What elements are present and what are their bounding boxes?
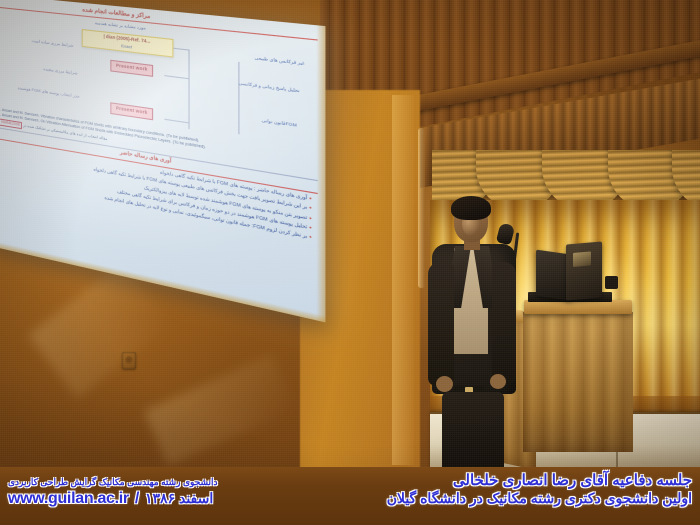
diagram-label: حذر انتخاب پوسته های FGM هوشمند — [18, 85, 80, 100]
diagram-connector — [164, 118, 189, 122]
diagram-connector — [171, 47, 189, 50]
presenter-hand — [490, 374, 506, 389]
present-work-badge: Present work — [111, 102, 153, 120]
wall-corner-highlight — [392, 95, 414, 465]
diagram-connector — [189, 49, 190, 129]
present-work-badge: Present work — [111, 59, 153, 76]
caption-separator: / — [135, 490, 139, 508]
small-device — [605, 276, 618, 289]
caption-title: جلسه دفاعیه آقای رضا انصاری خلخالی — [453, 471, 692, 489]
presenter-arm — [428, 262, 454, 386]
caption-subtitle: اولین دانشجوی دکتری رشته مکانیک در دانشگ… — [387, 490, 692, 507]
caption-side-note: دانشجوی رشته مهندسی مکانیک گرایش طراحی ک… — [8, 477, 218, 488]
website-link[interactable]: www.guilan.ac.ir — [8, 490, 129, 508]
presenter-trousers — [442, 392, 504, 472]
presenter — [418, 200, 528, 470]
diagram-label: تحلیل پاسخ زمانی و فرکانسی — [238, 80, 299, 95]
diagram-label: غیر فرکانس های طبیعی — [255, 54, 305, 67]
wall-socket-icon — [122, 352, 136, 369]
podium-top — [524, 300, 632, 314]
diagram-label: شرایط مرزی ساده است — [32, 38, 74, 49]
screen-right-edge — [316, 25, 325, 322]
diagram-label: شرایط مرزی پیچیده — [43, 66, 77, 77]
caption-bar: جلسه دفاعیه آقای رضا انصاری خلخالی دانشج… — [0, 467, 700, 525]
laptop-screen — [536, 250, 570, 301]
diagram-connector — [239, 62, 240, 134]
presenter-arm — [492, 262, 516, 384]
presenter-hand — [436, 376, 453, 392]
diagram-label: FGMقانون توانی — [262, 117, 297, 129]
presentation-photo: مراکز و مطالعات انجام شده مورد مشابه بر … — [0, 0, 700, 525]
diagram-connector — [164, 75, 189, 79]
caption-date: ۱۳۸۶ اسفند — [145, 490, 213, 507]
podium — [523, 312, 633, 452]
monitor-screen — [566, 241, 602, 300]
presenter-hair — [451, 196, 491, 220]
